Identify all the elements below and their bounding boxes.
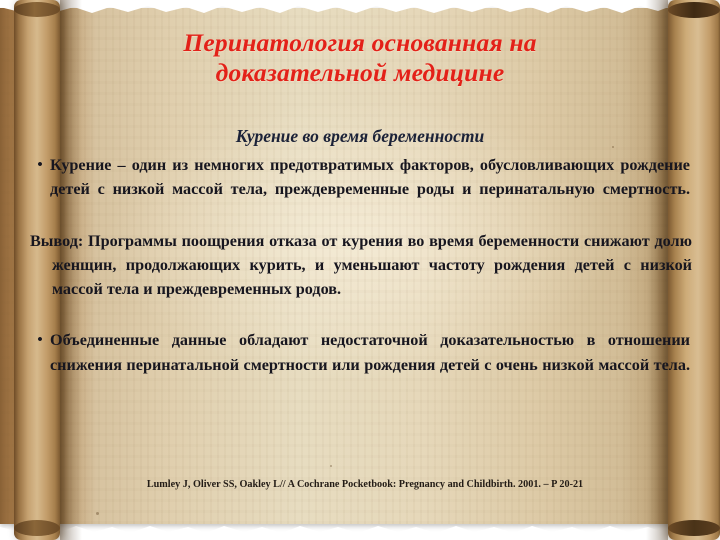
slide-content: Перинатология основанная на доказательно… [0, 0, 720, 540]
slide-body: • Курение – один из немногих предотврати… [30, 153, 692, 404]
bullet-dot-icon: • [30, 328, 50, 352]
bullet-item-text: Курение – один из немногих предотвратимы… [50, 153, 692, 226]
source-citation: Lumley J, Oliver SS, Oakley L// A Cochra… [80, 478, 650, 492]
bullet-list-item: • Объединенные данные обладают недостато… [30, 328, 692, 401]
slide-canvas: Перинатология основанная на доказательно… [0, 0, 720, 540]
bullet-list-item: • Курение – один из немногих предотврати… [30, 153, 692, 226]
conclusion-paragraph: Вывод: Программы поощрения отказа от кур… [30, 229, 692, 326]
conclusion-paragraph-text: Вывод: Программы поощрения отказа от кур… [30, 229, 692, 302]
slide-title: Перинатология основанная на доказательно… [104, 28, 616, 88]
bullet-dot-icon: • [30, 153, 50, 177]
bullet-item-text: Объединенные данные обладают недостаточн… [50, 328, 692, 401]
slide-subtitle: Курение во время беременности [104, 125, 616, 147]
